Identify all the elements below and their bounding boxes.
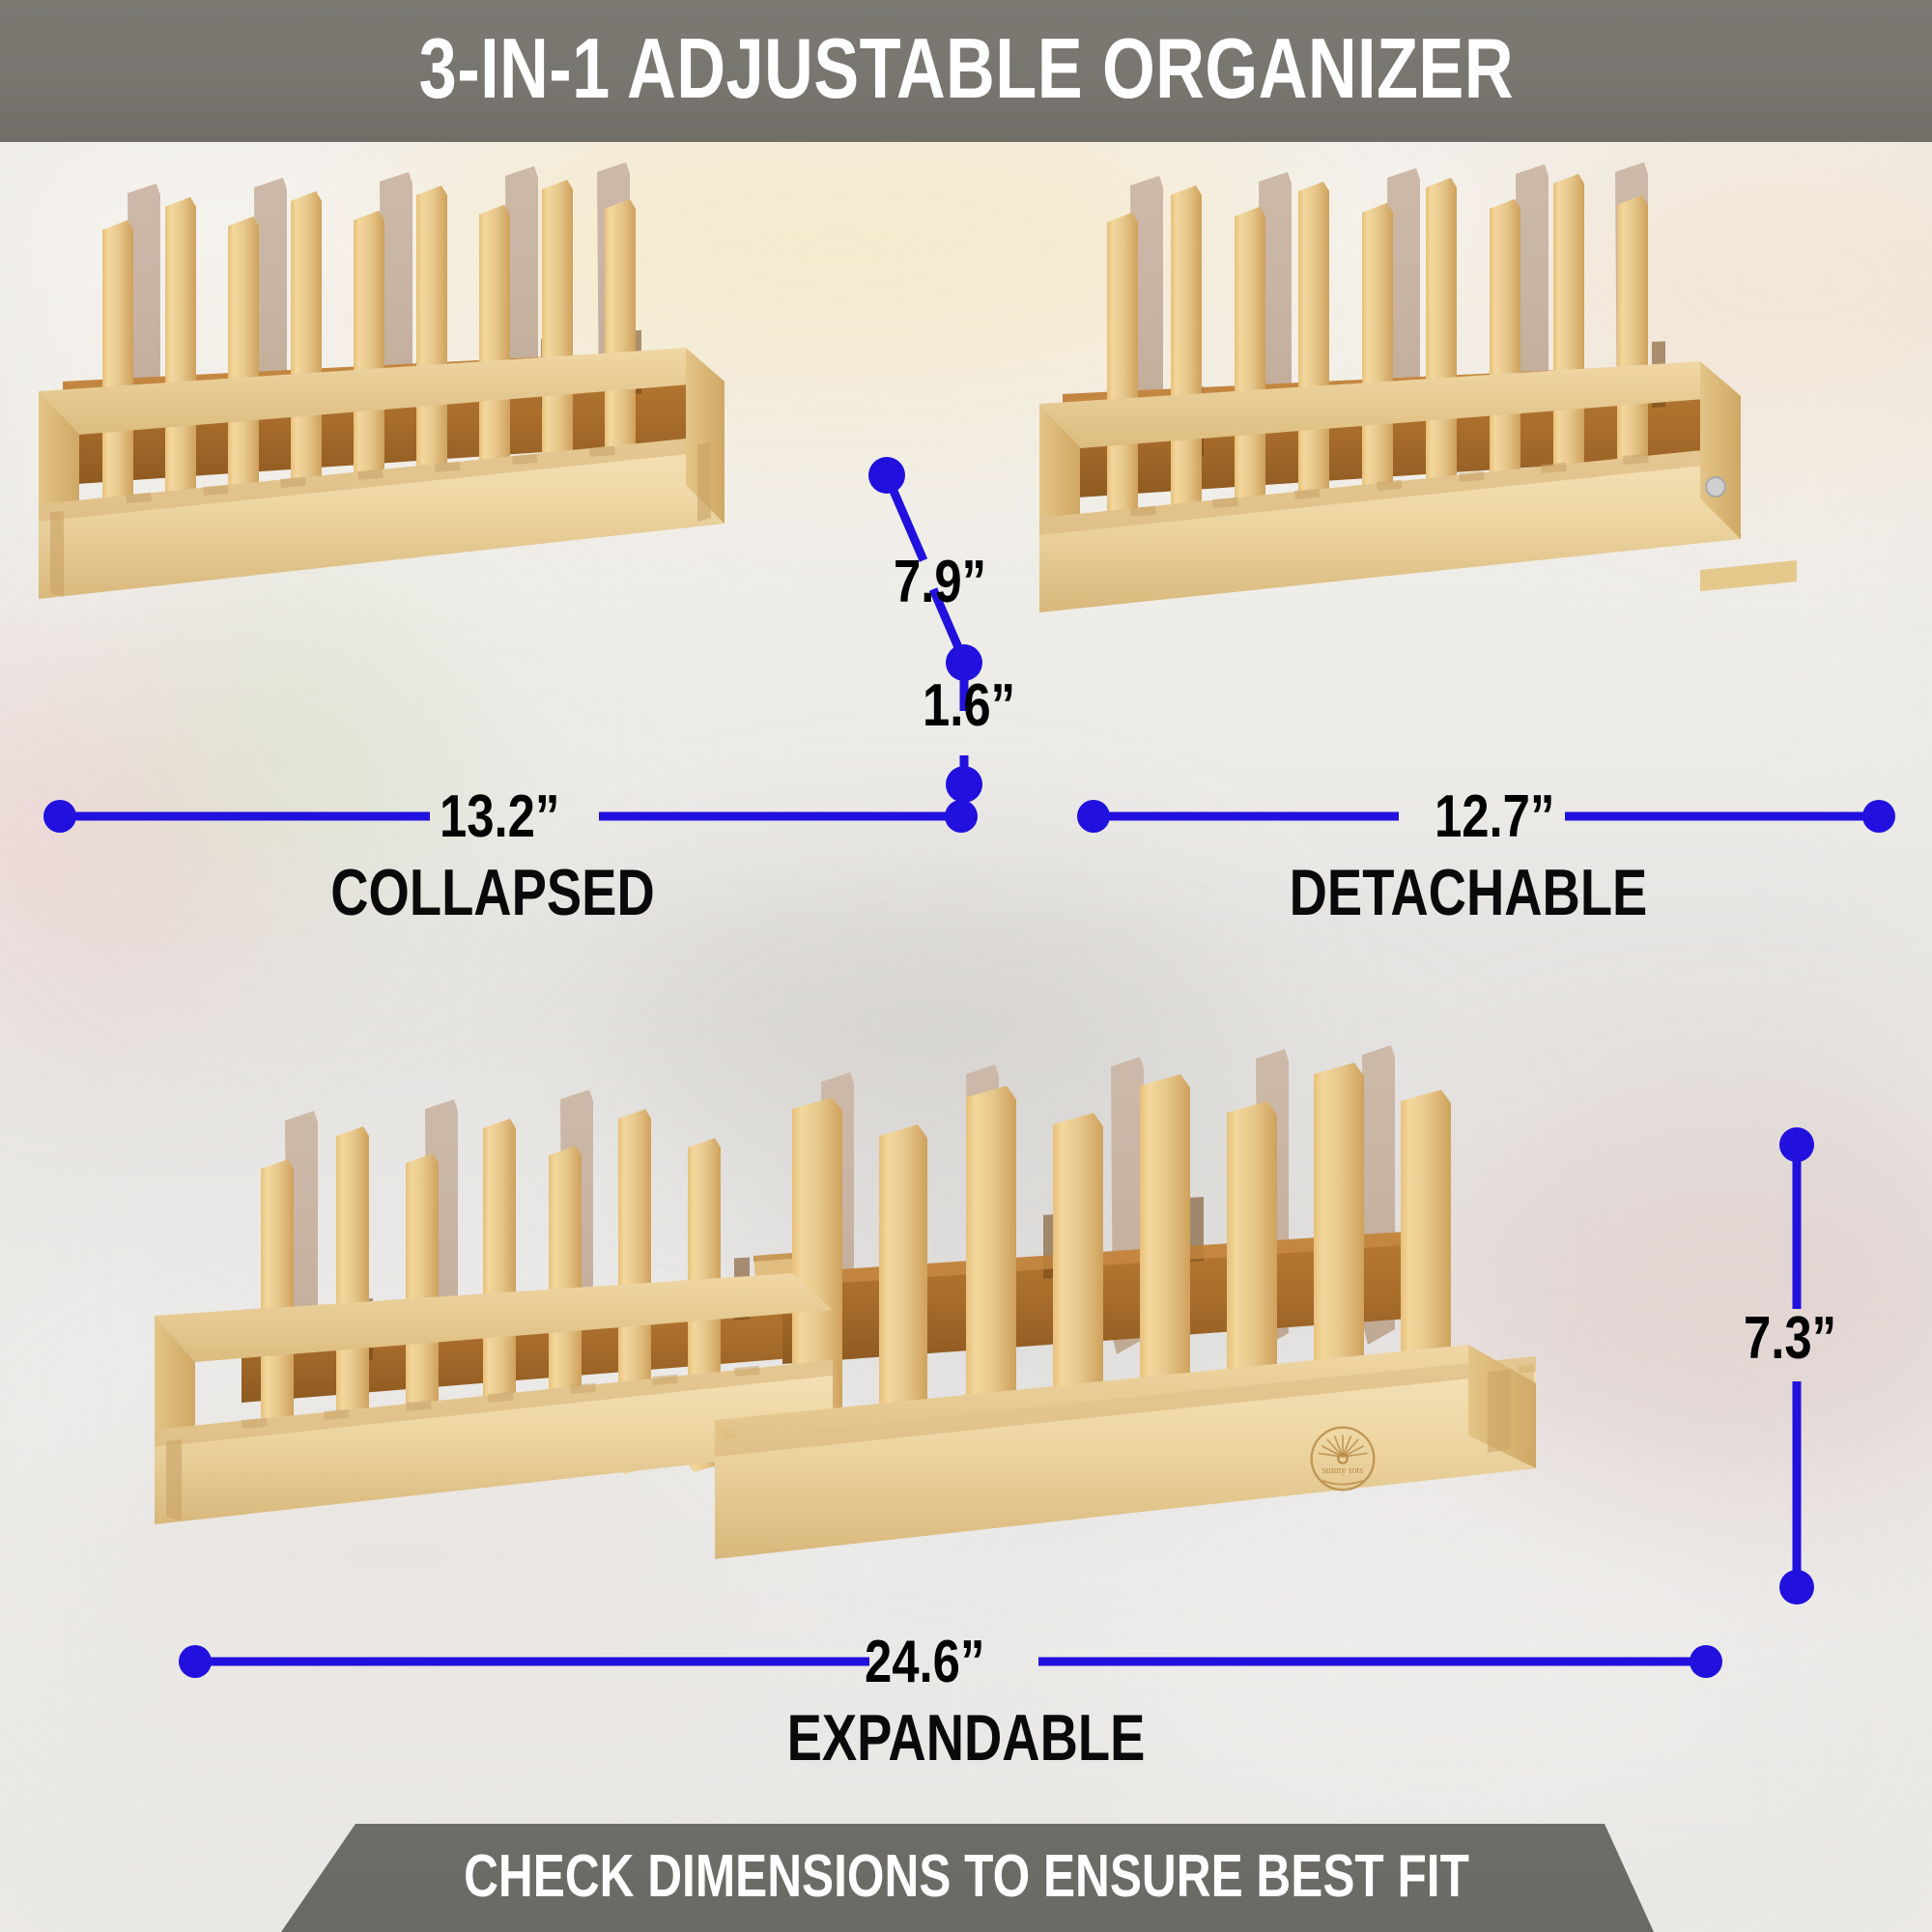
- caption-detachable: DETACHABLE: [1097, 860, 1839, 925]
- dimension-line-height-73: [1768, 1125, 1826, 1618]
- top-banner-title: 3-IN-1 ADJUSTABLE ORGANIZER: [418, 26, 1513, 117]
- product-image-collapsed: [10, 145, 937, 802]
- product-image-expandable: sunny tots: [116, 966, 1710, 1642]
- dimension-label-height-79: 7.9”: [894, 553, 986, 612]
- dimension-label-width-132: 13.2”: [440, 787, 559, 847]
- caption-collapsed: COLLAPSED: [99, 860, 887, 925]
- tray-base: [39, 348, 724, 599]
- dimension-label-height-73: 7.3”: [1744, 1309, 1836, 1369]
- detach-pin-icon: [1706, 477, 1725, 497]
- dimension-label-height-16: 1.6”: [923, 676, 1015, 736]
- bottom-banner-text: CHECK DIMENSIONS TO ENSURE BEST FIT: [464, 1847, 1469, 1909]
- product-image-detachable: [1024, 155, 1932, 802]
- dimension-label-width-246: 24.6”: [865, 1633, 984, 1692]
- dimension-label-width-127: 12.7”: [1435, 787, 1554, 847]
- caption-expandable: EXPANDABLE: [572, 1705, 1360, 1771]
- svg-text:sunny tots: sunny tots: [1322, 1465, 1364, 1476]
- top-banner: 3-IN-1 ADJUSTABLE ORGANIZER: [0, 0, 1932, 142]
